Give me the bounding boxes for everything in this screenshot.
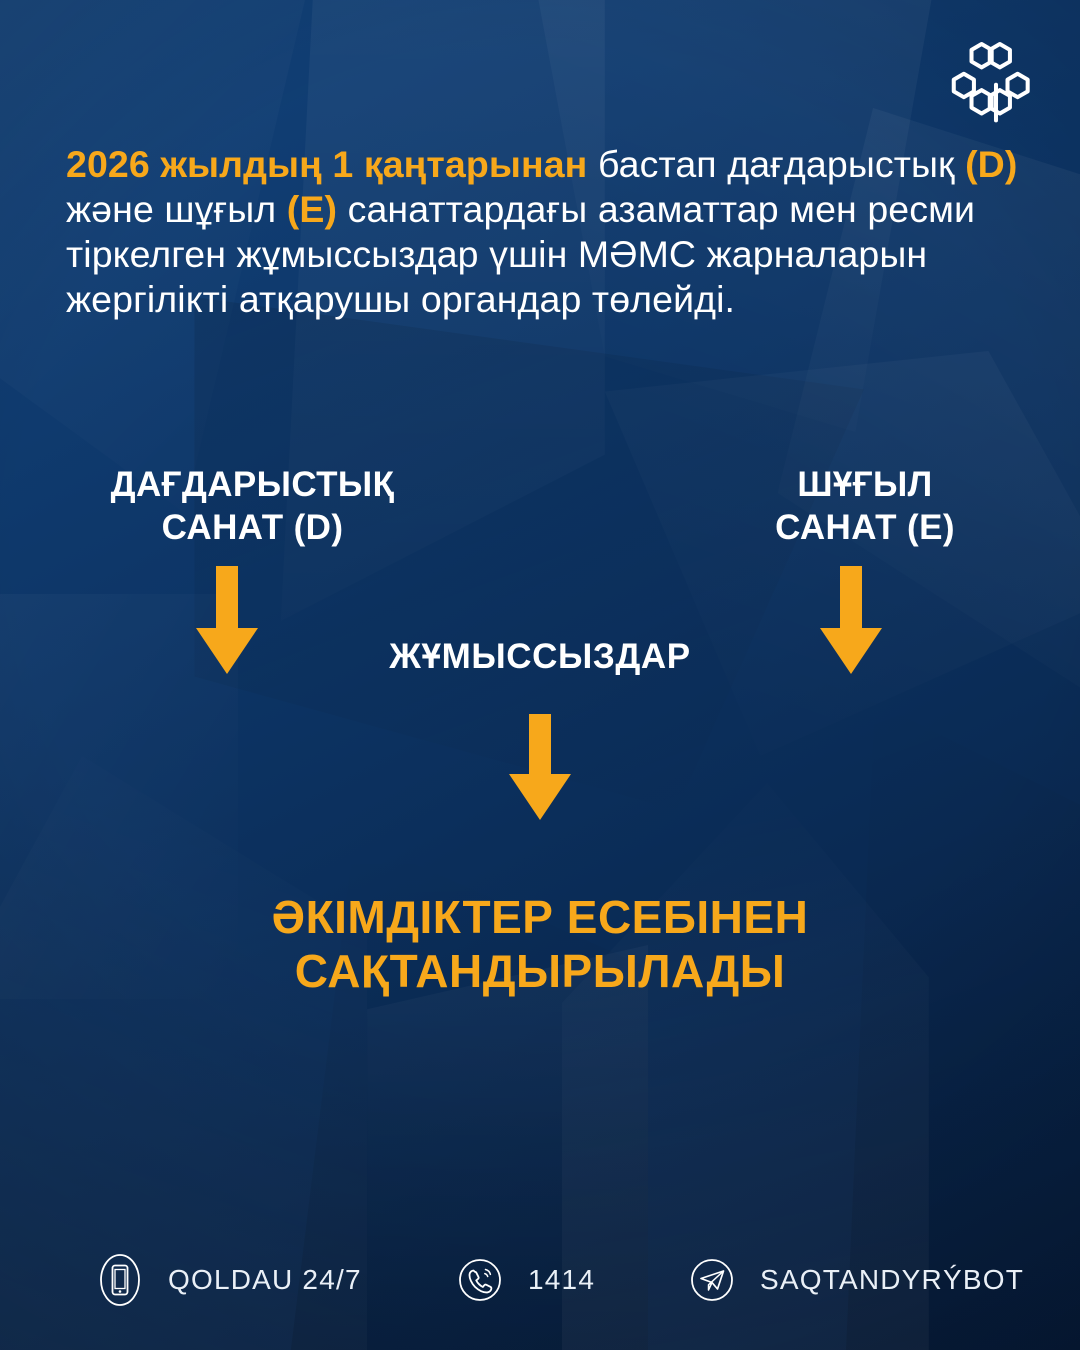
arrow-down-icon-left — [196, 566, 258, 674]
category-right-line2: САНАТ (E) — [700, 506, 1030, 549]
category-right-line1: ШҰҒЫЛ — [700, 463, 1030, 506]
snowflake-hexagon-logo-icon — [948, 32, 1044, 128]
intro-highlight-date: 2026 жылдың 1 қаңтарынан — [66, 143, 587, 185]
footer-item-telegram[interactable]: SAQTANDYRÝBOT — [684, 1252, 1024, 1308]
category-label-crisis: ДАҒДАРЫСТЫҚ САНАТ (D) — [40, 463, 465, 549]
mobile-phone-icon — [92, 1252, 148, 1308]
intro-segment-2: және шұғыл — [66, 188, 287, 230]
middle-label-unemployed: ЖҰМЫССЫЗДАР — [330, 637, 750, 677]
intro-highlight-d: (D) — [965, 143, 1017, 185]
result-line2: САҚТАНДЫРЫЛАДЫ — [90, 944, 990, 998]
arrow-down-icon-right — [820, 566, 882, 674]
footer-label-qoldau: QOLDAU 24/7 — [168, 1264, 362, 1296]
footer-contacts: QOLDAU 24/7 1414 SAQTANDY — [0, 1252, 1080, 1328]
footer-label-telegram: SAQTANDYRÝBOT — [760, 1264, 1024, 1296]
category-left-line2: САНАТ (D) — [40, 506, 465, 549]
result-headline: ӘКІМДІКТЕР ЕСЕБІНЕН САҚТАНДЫРЫЛАДЫ — [90, 890, 990, 998]
intro-segment-1: бастап дағдарыстық — [587, 143, 965, 185]
result-line1: ӘКІМДІКТЕР ЕСЕБІНЕН — [90, 890, 990, 944]
footer-label-hotline: 1414 — [528, 1264, 595, 1296]
category-label-urgent: ШҰҒЫЛ САНАТ (E) — [700, 463, 1030, 549]
infographic-poster: 2026 жылдың 1 қаңтарынан бастап дағдарыс… — [0, 0, 1080, 1350]
footer-item-qoldau[interactable]: QOLDAU 24/7 — [92, 1252, 362, 1308]
phone-call-icon — [452, 1252, 508, 1308]
intro-highlight-e: (E) — [287, 188, 337, 230]
arrow-down-icon-middle — [509, 714, 571, 820]
intro-paragraph: 2026 жылдың 1 қаңтарынан бастап дағдарыс… — [66, 142, 1026, 322]
category-left-line1: ДАҒДАРЫСТЫҚ — [40, 463, 465, 506]
footer-item-hotline[interactable]: 1414 — [452, 1252, 595, 1308]
telegram-plane-icon — [684, 1252, 740, 1308]
